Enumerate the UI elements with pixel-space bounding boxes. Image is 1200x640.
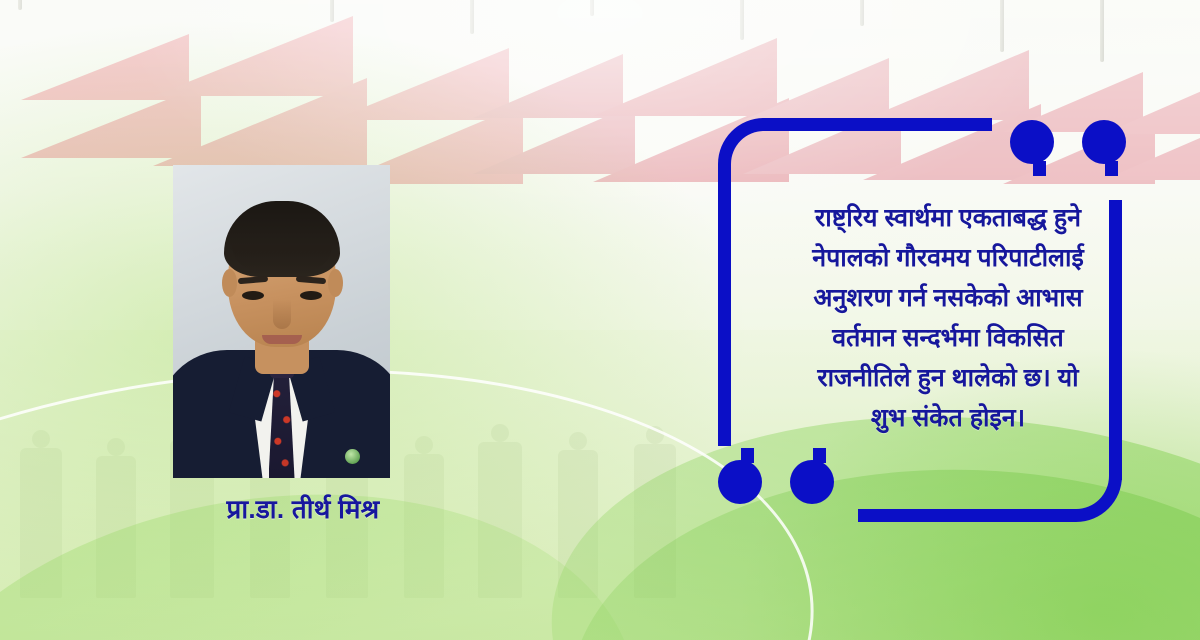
author-name: प्रा.डा. तीर्थ मिश्र xyxy=(188,490,418,526)
lapel-badge xyxy=(345,449,360,464)
open-quote-mark-icon xyxy=(718,460,762,504)
ear-right xyxy=(328,269,343,297)
mouth-shape xyxy=(262,335,302,344)
frame-border-bottom xyxy=(858,509,1064,522)
quote-line: शुभ संकेत होइन। xyxy=(752,398,1144,438)
eye-left xyxy=(242,291,264,300)
open-quote-mark-icon xyxy=(790,460,834,504)
quote-card: प्रा.डा. तीर्थ मिश्र राष्ट्रिय स्वार्थमा… xyxy=(0,0,1200,640)
quote-line: वर्तमान सन्दर्भमा विकसित xyxy=(752,318,1144,358)
quote-line: राजनीतिले हुन थालेको छ। यो xyxy=(752,358,1144,398)
quote-text: राष्ट्रिय स्वार्थमा एकताबद्ध हुने नेपालक… xyxy=(752,198,1144,438)
ear-left xyxy=(222,269,237,297)
nose-shape xyxy=(273,299,291,329)
author-photo xyxy=(173,165,390,478)
quote-line: नेपालको गौरवमय परिपाटीलाई xyxy=(752,238,1144,278)
close-quote-mark-icon xyxy=(1082,120,1126,164)
close-quote-mark-icon xyxy=(1010,120,1054,164)
frame-border-top xyxy=(774,118,992,131)
frame-border-left xyxy=(718,174,731,446)
eye-right xyxy=(300,291,322,300)
quote-line: राष्ट्रिय स्वार्थमा एकताबद्ध हुने xyxy=(752,198,1144,238)
quote-line: अनुशरण गर्न नसकेको आभास xyxy=(752,278,1144,318)
